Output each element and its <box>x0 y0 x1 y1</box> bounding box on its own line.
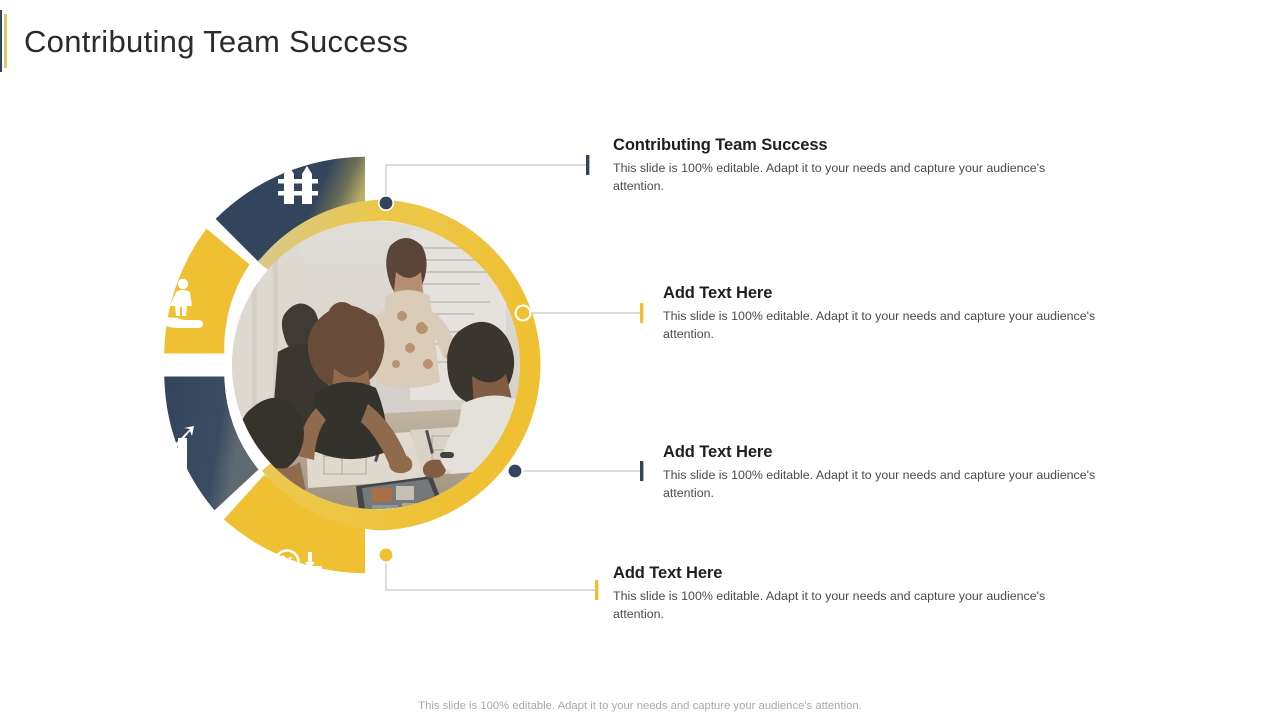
circular-infographic <box>110 120 1120 640</box>
info-block-3-heading: Add Text Here <box>663 443 1105 462</box>
page-title: Contributing Team Success <box>24 26 408 57</box>
info-block-1-body: This slide is 100% editable. Adapt it to… <box>613 160 1053 196</box>
connector-4 <box>378 547 599 601</box>
info-block-1: Contributing Team Success This slide is … <box>613 136 1053 196</box>
info-block-2-body: This slide is 100% editable. Adapt it to… <box>663 308 1105 344</box>
info-block-2: Add Text Here This slide is 100% editabl… <box>663 284 1105 344</box>
info-block-4-body: This slide is 100% editable. Adapt it to… <box>613 588 1053 624</box>
info-block-2-heading: Add Text Here <box>663 284 1105 303</box>
title-accent-bar-gold <box>4 14 7 68</box>
info-block-3-body: This slide is 100% editable. Adapt it to… <box>663 467 1105 503</box>
info-block-3: Add Text Here This slide is 100% editabl… <box>663 443 1105 503</box>
slide-footer-note: This slide is 100% editable. Adapt it to… <box>0 700 1280 712</box>
info-block-1-heading: Contributing Team Success <box>613 136 1053 155</box>
slide-header: Contributing Team Success <box>0 10 408 72</box>
info-block-4-heading: Add Text Here <box>613 564 1053 583</box>
info-block-4: Add Text Here This slide is 100% editabl… <box>613 564 1053 624</box>
